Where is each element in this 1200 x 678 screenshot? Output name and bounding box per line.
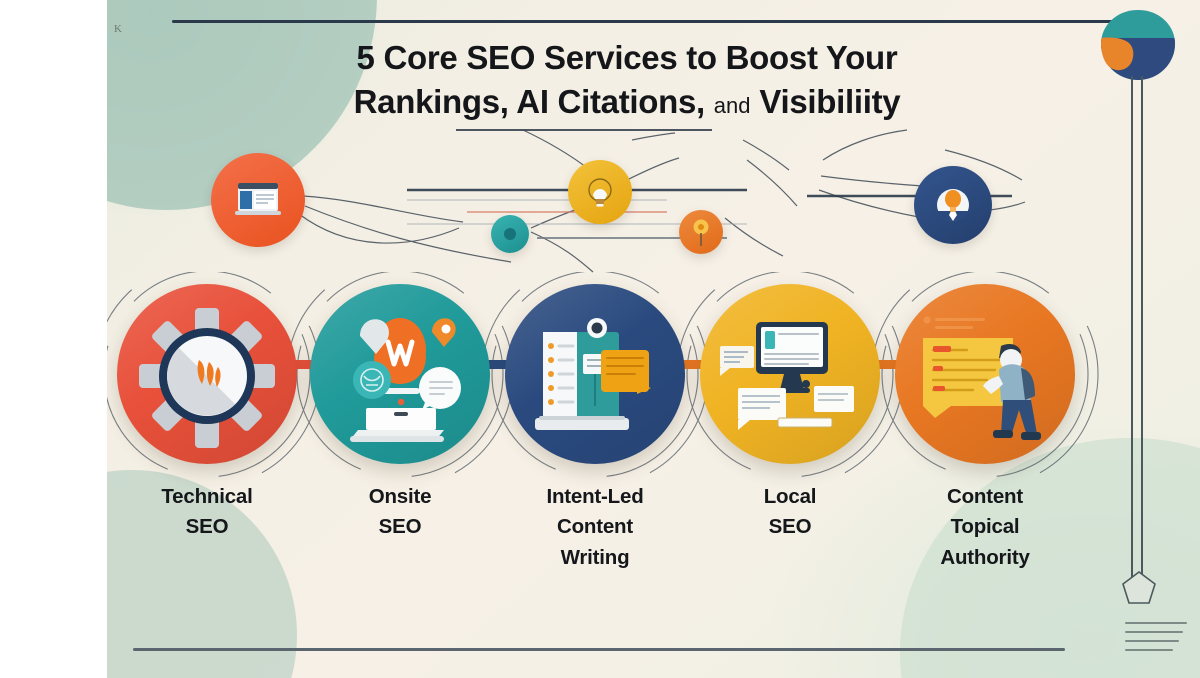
label-line: Writing (505, 543, 685, 573)
dot-icon (504, 228, 516, 240)
browser-window-icon (235, 181, 281, 219)
top-node-lightbulb[interactable] (568, 160, 632, 224)
step-label-onsite-seo: Onsite SEO (310, 482, 490, 543)
infographic-root: K 5 Core SEO Services to Boost Your Rank… (0, 0, 1200, 678)
step-circle-local-seo[interactable] (700, 284, 880, 464)
laptop-ideas-icon (310, 284, 490, 464)
step-label-technical-seo: Technical SEO (117, 482, 297, 543)
step-label-content-topical-authority: Content Topical Authority (895, 482, 1075, 573)
step-circle-technical-seo[interactable] (117, 284, 297, 464)
decor-bar (1125, 640, 1179, 642)
divider-bottom (133, 648, 1065, 651)
top-node-browser[interactable] (211, 153, 305, 247)
step-label-local-seo: Local SEO (700, 482, 880, 543)
decor-bar (1125, 631, 1183, 633)
top-node-dot[interactable] (491, 215, 529, 253)
main-step-row (107, 272, 1200, 487)
bulb-person-icon (931, 183, 975, 227)
label-line: Intent-Led (505, 482, 685, 512)
top-node-pin[interactable] (679, 210, 723, 254)
top-node-bulb-person[interactable] (914, 166, 992, 244)
step-label-intent-led-content-writing: Intent-Led Content Writing (505, 482, 685, 573)
infographic-canvas: K 5 Core SEO Services to Boost Your Rank… (107, 0, 1200, 678)
label-line: Local (700, 482, 880, 512)
person-document-icon (895, 284, 1075, 464)
lightbulb-icon (583, 175, 617, 209)
decor-bar (1125, 649, 1173, 651)
label-line: Technical (117, 482, 297, 512)
label-line: Topical (895, 512, 1075, 542)
pin-icon (691, 217, 711, 247)
decor-bars (1125, 622, 1187, 658)
label-line: Onsite (310, 482, 490, 512)
label-line: SEO (700, 512, 880, 542)
decor-bar (1125, 622, 1187, 624)
label-line: SEO (117, 512, 297, 542)
desktop-listing-icon (700, 284, 880, 464)
content-document-icon (505, 284, 685, 464)
top-node-network (107, 0, 1200, 300)
step-circle-content-topical-authority[interactable] (895, 284, 1075, 464)
label-line: Content (895, 482, 1075, 512)
label-line: Authority (895, 543, 1075, 573)
step-circle-intent-led-content-writing[interactable] (505, 284, 685, 464)
step-circle-onsite-seo[interactable] (310, 284, 490, 464)
label-line: SEO (310, 512, 490, 542)
step-labels: Technical SEO Onsite SEO Intent-Led Cont… (107, 482, 1200, 612)
gear-icon (117, 284, 297, 464)
label-line: Content (505, 512, 685, 542)
